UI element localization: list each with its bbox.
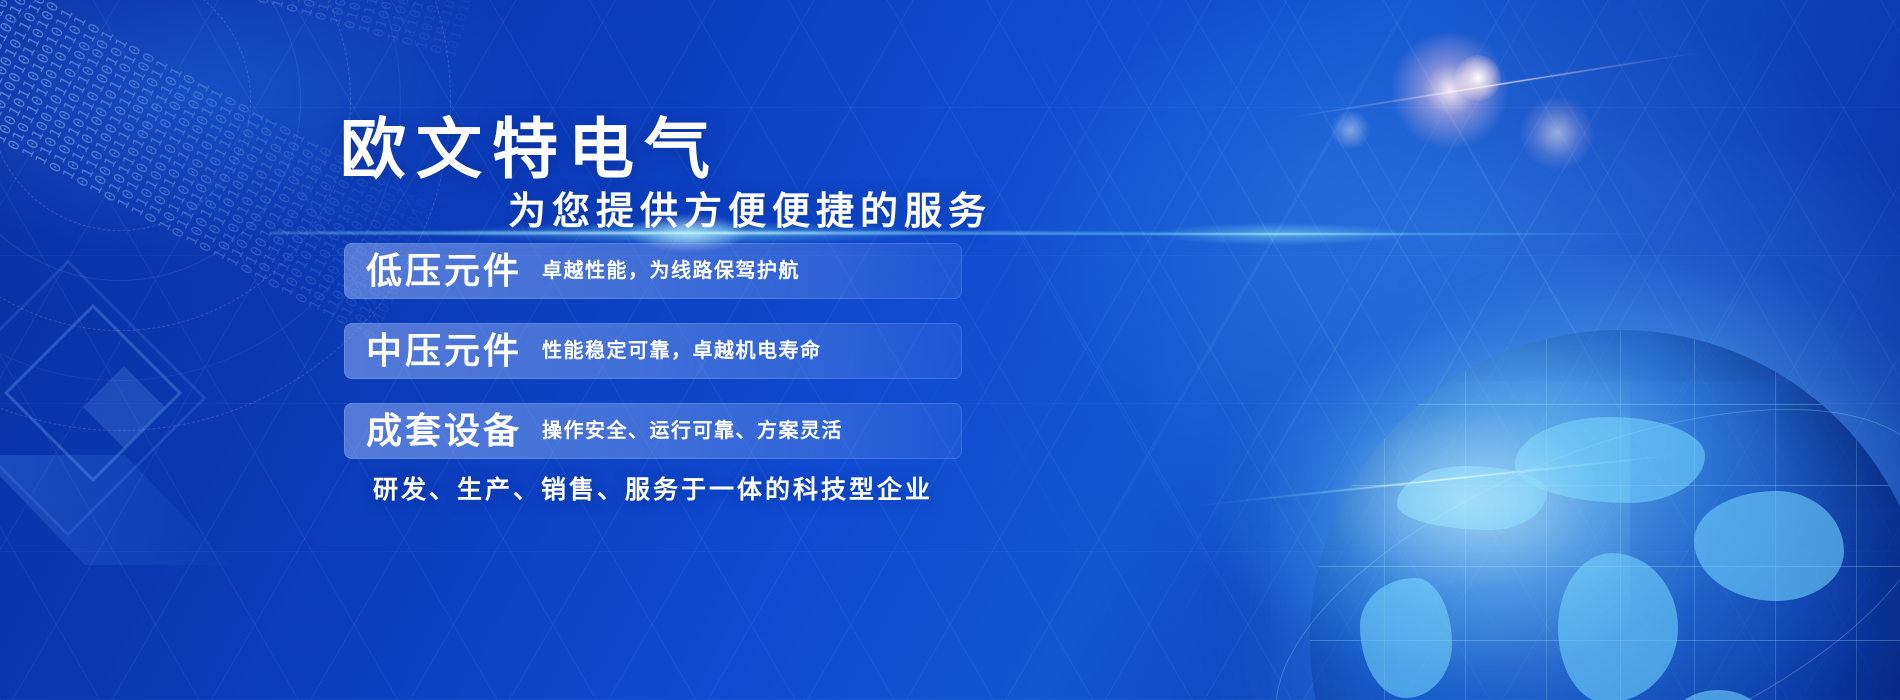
banner-tagline: 研发、生产、销售、服务于一体的科技型企业 <box>344 470 962 506</box>
hero-banner: 101101001011010 010110100101101 10100101… <box>0 0 1900 700</box>
company-title: 欧文特电气 <box>340 96 720 192</box>
feature-bar-complete-equipment[interactable]: 成套设备 操作安全、运行可靠、方案灵活 <box>344 403 962 459</box>
feature-title: 成套设备 <box>366 413 522 449</box>
feature-title: 中压元件 <box>366 333 522 369</box>
feature-description: 卓越性能，为线路保驾护航 <box>542 261 800 281</box>
feature-title: 低压元件 <box>366 253 522 289</box>
banner-content: 欧文特电气 为您提供方便便捷的服务 低压元件 卓越性能，为线路保驾护航 中压元件… <box>0 0 1900 700</box>
banner-subtitle: 为您提供方便便捷的服务 <box>508 180 992 235</box>
feature-bar-medium-voltage[interactable]: 中压元件 性能稳定可靠，卓越机电寿命 <box>344 323 962 379</box>
feature-description: 性能稳定可靠，卓越机电寿命 <box>542 341 822 361</box>
feature-description: 操作安全、运行可靠、方案灵活 <box>542 421 843 441</box>
feature-bar-low-voltage[interactable]: 低压元件 卓越性能，为线路保驾护航 <box>344 243 962 299</box>
feature-bar-list: 低压元件 卓越性能，为线路保驾护航 中压元件 性能稳定可靠，卓越机电寿命 成套设… <box>344 243 962 483</box>
